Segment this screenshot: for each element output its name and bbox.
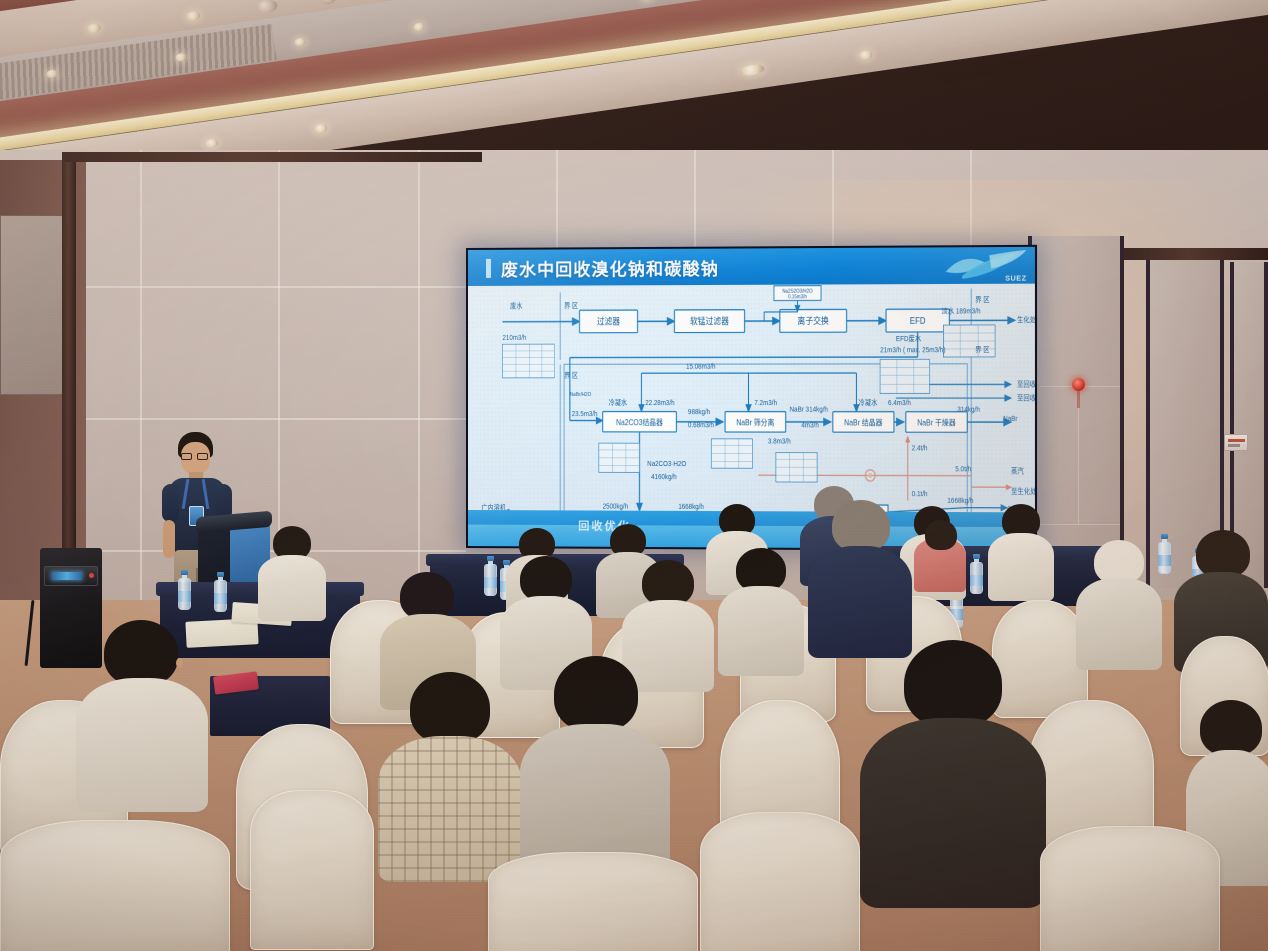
svg-text:5.0t/h: 5.0t/h (955, 466, 971, 474)
svg-text:0.68m3/h: 0.68m3/h (688, 422, 714, 430)
svg-text:冷凝水: 冷凝水 (858, 397, 877, 407)
svg-text:Na2CO3结晶器: Na2CO3结晶器 (616, 418, 663, 428)
slide-title-bar: 废水中回收溴化钠和碳酸钠 SUEZ (468, 247, 1035, 286)
water-bottle (214, 572, 227, 612)
svg-text:过滤器: 过滤器 (597, 316, 621, 327)
svg-text:软锰过滤器: 软锰过滤器 (690, 316, 730, 327)
list-item (718, 548, 804, 668)
svg-text:NaBr 干燥器: NaBr 干燥器 (917, 418, 956, 428)
svg-text:15.08m3/h: 15.08m3/h (686, 363, 716, 371)
chair (488, 852, 698, 951)
svg-text:离子交换: 离子交换 (797, 316, 829, 327)
conference-room-scene: 废水中回收溴化钠和碳酸钠 SUEZ (0, 0, 1268, 951)
svg-text:NaBr 结晶器: NaBr 结晶器 (844, 418, 883, 428)
right-transom-beam (1124, 248, 1268, 260)
svg-text:EFD: EFD (910, 315, 926, 326)
list-item (860, 640, 1046, 900)
list-item (258, 526, 326, 618)
svg-text:7.2m3/h: 7.2m3/h (754, 399, 777, 407)
svg-text:EFD废水: EFD废水 (896, 333, 922, 343)
left-wall-panel (0, 215, 64, 395)
svg-text:2500kg/h: 2500kg/h (603, 503, 629, 511)
title-accent-bar (486, 258, 491, 277)
water-bottle (970, 554, 983, 594)
svg-text:2.4t/h: 2.4t/h (912, 445, 928, 453)
water-bottle (178, 570, 191, 610)
svg-text:界 区: 界 区 (975, 346, 990, 355)
svg-text:23.5m3/h: 23.5m3/h (572, 411, 598, 419)
svg-text:21m3/h ( max. 25m3/h): 21m3/h ( max. 25m3/h) (880, 347, 945, 355)
left-header-beam (62, 152, 482, 162)
chair (700, 812, 860, 951)
chair (1040, 826, 1220, 951)
glasses-icon (181, 453, 210, 460)
svg-text:至回收水罐: 至回收水罐 (1017, 393, 1035, 403)
fire-alarm-stem (1077, 390, 1080, 408)
svg-text:988kg/h: 988kg/h (688, 408, 710, 416)
svg-text:Na2S2O3/H2O: Na2S2O3/H2O (782, 288, 813, 295)
svg-text:废水: 废水 (510, 301, 523, 311)
svg-text:314kg/h: 314kg/h (957, 406, 980, 414)
svg-text:至回收水罐: 至回收水罐 (1017, 379, 1035, 389)
list-item (914, 520, 966, 590)
svg-text:冷凝水: 冷凝水 (608, 397, 627, 407)
svg-text:界 区: 界 区 (975, 296, 990, 305)
svg-text:4m3/h: 4m3/h (801, 422, 819, 430)
svg-text:210m3/h: 210m3/h (503, 334, 527, 342)
av-power-indicator (89, 573, 94, 578)
chair (0, 820, 230, 951)
list-item (988, 504, 1054, 596)
svg-text:界 区: 界 区 (564, 371, 578, 380)
svg-text:6.4m3/h: 6.4m3/h (888, 399, 911, 407)
list-item (76, 620, 208, 804)
water-bottle (484, 556, 497, 596)
svg-text:Na2CO3·H2O: Na2CO3·H2O (647, 460, 686, 468)
chair (250, 790, 374, 950)
svg-text:3.8m3/h: 3.8m3/h (768, 438, 791, 446)
svg-text:NaBr 筛分离: NaBr 筛分离 (736, 418, 774, 428)
list-item (1076, 540, 1162, 664)
svg-text:淡水 189m3/h: 淡水 189m3/h (941, 306, 980, 316)
list-item (808, 500, 912, 650)
wall-notice-sign (1224, 434, 1248, 451)
svg-text:至生化处理: 至生化处理 (1011, 486, 1035, 496)
slide-title: 废水中回收溴化钠和碳酸钠 (501, 254, 719, 280)
av-display-readout (52, 572, 82, 580)
svg-text:界 区: 界 区 (564, 302, 578, 311)
svg-text:22.28m3/h: 22.28m3/h (645, 399, 675, 407)
svg-text:1668kg/h: 1668kg/h (947, 498, 973, 506)
svg-text:0.15m3/h: 0.15m3/h (788, 294, 807, 301)
svg-text:生化处理: 生化处理 (1017, 315, 1035, 325)
svg-text:NaBr 314kg/h: NaBr 314kg/h (790, 406, 829, 414)
list-item (520, 656, 670, 866)
svg-text:4160kg/h: 4160kg/h (651, 474, 677, 482)
svg-text:NaBr/H2O: NaBr/H2O (570, 391, 591, 397)
list-item (378, 672, 522, 872)
svg-text:蒸汽: 蒸汽 (1011, 466, 1024, 476)
suez-logo-text: SUEZ (1005, 275, 1026, 282)
svg-text:NaBr: NaBr (1003, 415, 1018, 423)
svg-text:0.1t/h: 0.1t/h (912, 491, 928, 499)
svg-text:1668kg/h: 1668kg/h (678, 503, 704, 511)
